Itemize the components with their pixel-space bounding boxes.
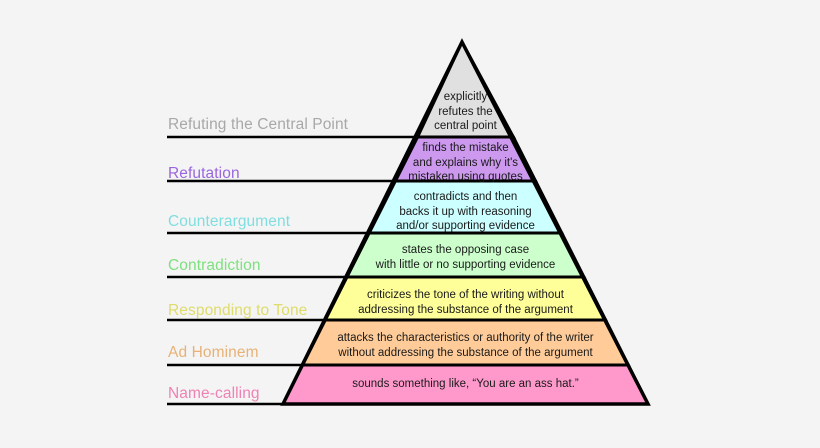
tier-description-7: sounds something like, “You are an ass h…: [288, 377, 643, 392]
tier-description-3: contradicts and then backs it up with re…: [374, 190, 557, 234]
diagram-canvas: Refuting the Central PointRefutationCoun…: [0, 0, 820, 448]
tier-description-1: explicitly refutes the central point: [420, 90, 512, 134]
tier-label-3: Counterargument: [168, 214, 290, 230]
tier-label-5: Responding to Tone: [168, 303, 307, 319]
tier-label-2: Refutation: [168, 166, 240, 182]
tier-label-7: Name-calling: [168, 386, 260, 402]
tier-label-4: Contradiction: [168, 258, 261, 274]
tier-description-2: finds the mistake and explains why it's …: [400, 141, 530, 185]
tier-description-5: criticizes the tone of the writing witho…: [330, 288, 600, 317]
tier-description-6: attacks the characteristics or authority…: [308, 331, 624, 360]
tier-label-1: Refuting the Central Point: [168, 117, 348, 133]
tier-label-6: Ad Hominem: [168, 345, 259, 361]
tier-description-4: states the opposing case with little or …: [352, 243, 579, 272]
